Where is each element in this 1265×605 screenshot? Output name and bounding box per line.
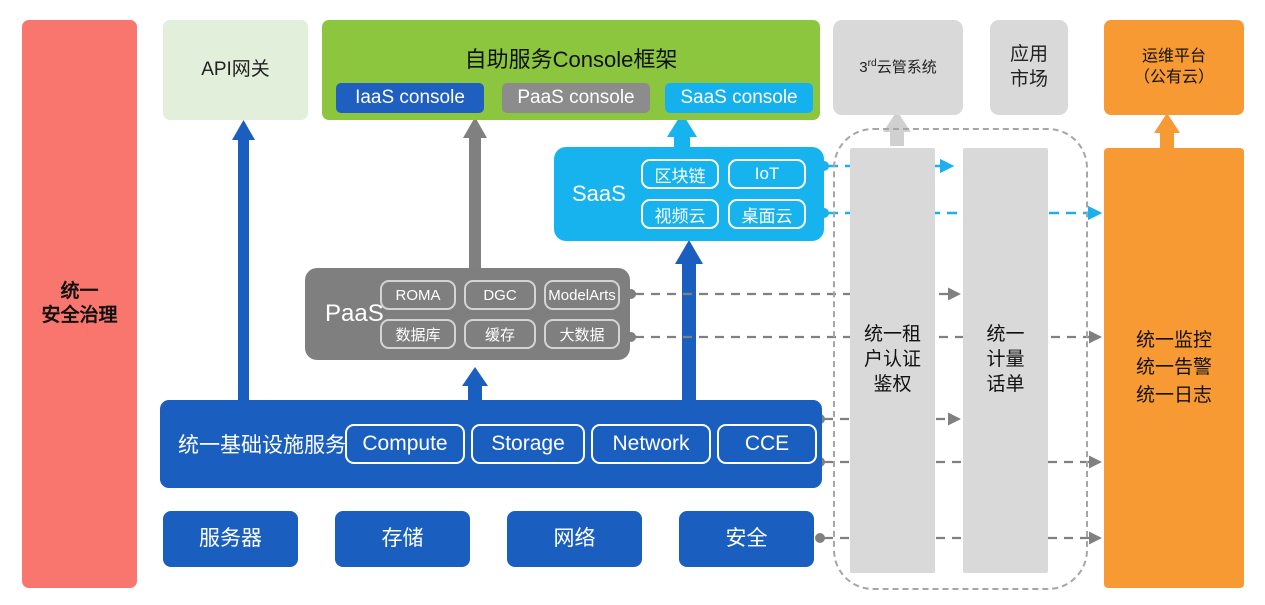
paas-chip-cache[interactable]: 缓存	[464, 319, 536, 349]
panel-ops-platform-public-cloud: 运维平台 （公有云）	[1104, 20, 1244, 115]
infra-label: 统一基础设施服务	[178, 429, 346, 459]
security-line-1: 统一	[60, 280, 98, 304]
auth-line-2: 户认证	[864, 348, 921, 373]
infra-chip-network[interactable]: Network	[591, 424, 711, 464]
app-market-line-2: 市场	[1010, 68, 1048, 93]
architecture-diagram: 统一租 户认证 鉴权 统一 计量 话单 统一 安全治理 API网关 自助服务Co…	[0, 0, 1265, 605]
saas-chip-blockchain[interactable]: 区块链	[641, 159, 719, 189]
panel-unified-monitoring: 统一监控 统一告警 统一日志	[1104, 148, 1244, 588]
panel-unified-infrastructure-services: 统一基础设施服务 Compute Storage Network CCE	[160, 400, 822, 488]
panel-saas: SaaS 区块链 IoT 视频云 桌面云	[554, 147, 824, 241]
panel-unified-security-governance: 统一 安全治理	[22, 20, 137, 588]
resource-label-security: 安全	[726, 526, 768, 552]
paas-label: PaaS	[325, 300, 384, 328]
third-party-prefix: 3	[859, 59, 867, 76]
paas-chip-modelarts[interactable]: ModelArts	[544, 280, 620, 310]
resource-label-network: 网络	[554, 526, 596, 552]
saas-chip-video-cloud[interactable]: 视频云	[641, 199, 719, 229]
resource-label-servers: 服务器	[199, 526, 262, 552]
security-line-2: 安全治理	[41, 304, 117, 328]
billing-line-1: 统一	[986, 323, 1024, 348]
column-unified-metering-billing: 统一 计量 话单	[963, 148, 1048, 573]
billing-line-2: 计量	[986, 348, 1024, 373]
auth-line-1: 统一租	[864, 323, 921, 348]
arrow-infra-to-apigw	[232, 120, 255, 400]
panel-api-gateway: API网关	[163, 20, 308, 120]
infra-chip-compute[interactable]: Compute	[345, 424, 465, 464]
resource-label-storage: 存储	[382, 526, 424, 552]
app-market-line-1: 应用	[1010, 43, 1048, 68]
panel-paas: PaaS ROMA DGC ModelArts 数据库 缓存 大数据	[305, 268, 630, 360]
panel-resource-storage[interactable]: 存储	[335, 511, 470, 567]
billing-line-3: 话单	[986, 373, 1024, 398]
panel-resource-servers[interactable]: 服务器	[163, 511, 298, 567]
saas-chip-desktop-cloud[interactable]: 桌面云	[728, 199, 806, 229]
monitoring-line-1: 统一监控	[1136, 327, 1212, 355]
chip-paas-console[interactable]: PaaS console	[502, 83, 650, 113]
paas-chip-dgc[interactable]: DGC	[464, 280, 536, 310]
chip-saas-console[interactable]: SaaS console	[665, 83, 813, 113]
paas-chip-bigdata[interactable]: 大数据	[544, 319, 620, 349]
arrow-infra-to-saas	[675, 240, 703, 400]
panel-resource-network[interactable]: 网络	[507, 511, 642, 567]
panel-resource-security[interactable]: 安全	[679, 511, 814, 567]
saas-chip-iot[interactable]: IoT	[728, 159, 806, 189]
third-party-suffix: 云管系统	[877, 59, 937, 76]
paas-chip-roma[interactable]: ROMA	[380, 280, 456, 310]
arrow-to-ops-platform	[1154, 113, 1180, 148]
infra-chip-cce[interactable]: CCE	[717, 424, 817, 464]
paas-chip-database[interactable]: 数据库	[380, 319, 456, 349]
console-framework-title: 自助服务Console框架	[322, 42, 820, 74]
infra-chip-storage[interactable]: Storage	[471, 424, 585, 464]
column-unified-tenant-auth: 统一租 户认证 鉴权	[850, 148, 935, 573]
api-gateway-label: API网关	[201, 58, 270, 82]
monitoring-line-3: 统一日志	[1136, 382, 1212, 410]
chip-iaas-console[interactable]: IaaS console	[336, 83, 484, 113]
monitoring-line-2: 统一告警	[1136, 354, 1212, 382]
arrow-paas-to-console	[463, 117, 487, 268]
auth-line-3: 鉴权	[873, 373, 911, 398]
panel-third-party-cloud-mgmt: 3rd云管系统	[833, 20, 963, 115]
third-party-cloud-label: 3rd云管系统	[859, 58, 936, 78]
arrow-infra-to-paas	[462, 367, 488, 400]
panel-app-market: 应用 市场	[990, 20, 1068, 115]
panel-console-framework: 自助服务Console框架 IaaS console PaaS console …	[322, 20, 820, 120]
third-party-superscript: rd	[868, 58, 877, 69]
saas-label: SaaS	[572, 181, 626, 207]
ops-platform-line-2: （公有云）	[1134, 68, 1214, 89]
ops-platform-line-1: 运维平台	[1142, 47, 1206, 68]
